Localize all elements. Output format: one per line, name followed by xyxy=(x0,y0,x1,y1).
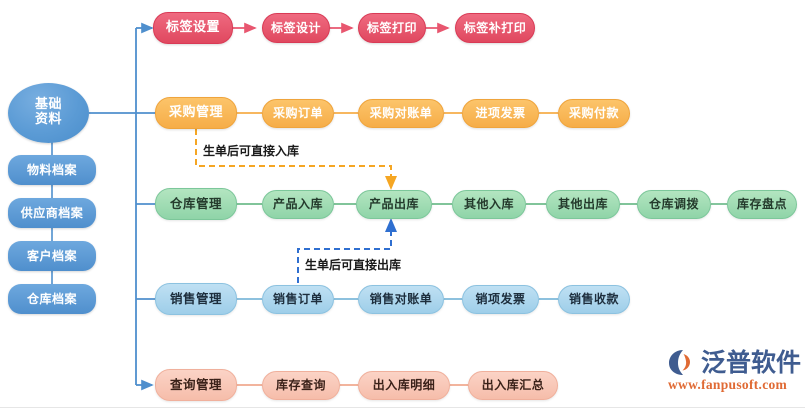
node-inventory-count[interactable]: 库存盘点 xyxy=(727,190,797,219)
node-label: 采购对账单 xyxy=(370,107,433,120)
root-label-line2: 资料 xyxy=(35,113,62,128)
node-warehouse-transfer[interactable]: 仓库调拨 xyxy=(637,190,711,219)
node-label: 查询管理 xyxy=(170,378,222,391)
node-purchase-payment[interactable]: 采购付款 xyxy=(558,99,630,128)
sidebar-item-label: 仓库档案 xyxy=(27,293,77,306)
sidebar-item-warehouse-archive[interactable]: 仓库档案 xyxy=(8,284,96,314)
node-output-invoice[interactable]: 销项发票 xyxy=(462,285,539,314)
node-label: 产品入库 xyxy=(273,198,323,211)
node-label: 标签设置 xyxy=(166,21,220,35)
annotation-salesorder-to-stockout: 生单后可直接出库 xyxy=(305,256,401,273)
node-label: 销项发票 xyxy=(475,293,525,306)
node-label-design[interactable]: 标签设计 xyxy=(262,13,330,43)
node-label: 标签补打印 xyxy=(464,22,527,35)
node-label: 采购订单 xyxy=(273,107,323,120)
node-label: 其他入库 xyxy=(464,198,514,211)
node-label: 仓库管理 xyxy=(170,197,222,210)
node-label-reprint[interactable]: 标签补打印 xyxy=(455,13,535,43)
node-query-management[interactable]: 查询管理 xyxy=(155,369,237,401)
node-product-stock-in[interactable]: 产品入库 xyxy=(262,190,334,219)
node-label: 其他出库 xyxy=(558,198,608,211)
node-label: 进项发票 xyxy=(475,107,525,120)
node-purchase-statement[interactable]: 采购对账单 xyxy=(358,99,444,128)
sidebar-item-label: 物料档案 xyxy=(27,164,77,177)
node-label: 销售收款 xyxy=(569,293,619,306)
node-label: 出入库明细 xyxy=(373,379,436,392)
logo-name: 泛普软件 xyxy=(701,350,801,375)
node-label: 库存盘点 xyxy=(737,198,787,211)
node-label-print[interactable]: 标签打印 xyxy=(358,13,426,43)
node-label: 库存查询 xyxy=(276,379,326,392)
node-label: 产品出库 xyxy=(369,198,419,211)
sidebar-item-customer-archive[interactable]: 客户档案 xyxy=(8,241,96,271)
node-label: 销售管理 xyxy=(170,292,222,305)
node-other-stock-in[interactable]: 其他入库 xyxy=(452,190,526,219)
node-sales-management[interactable]: 销售管理 xyxy=(155,283,237,315)
brand-logo: 泛普软件 www.fanpusoft.com xyxy=(668,349,801,393)
logo-url: www.fanpusoft.com xyxy=(668,377,801,393)
node-label: 采购管理 xyxy=(169,106,223,120)
sidebar-item-label: 客户档案 xyxy=(27,250,77,263)
annotation-purchase-to-stockin: 生单后可直接入库 xyxy=(203,142,299,159)
node-warehouse-management[interactable]: 仓库管理 xyxy=(155,188,237,220)
node-inventory-query[interactable]: 库存查询 xyxy=(262,371,340,400)
node-product-stock-out[interactable]: 产品出库 xyxy=(356,190,432,219)
node-label: 标签设计 xyxy=(271,22,321,35)
node-sales-receipt[interactable]: 销售收款 xyxy=(558,285,630,314)
node-label: 出入库汇总 xyxy=(482,379,545,392)
node-other-stock-out[interactable]: 其他出库 xyxy=(546,190,620,219)
node-purchase-management[interactable]: 采购管理 xyxy=(155,97,237,129)
sidebar-item-material-archive[interactable]: 物料档案 xyxy=(8,155,96,185)
node-label: 采购付款 xyxy=(569,107,619,120)
flowchart-canvas: 基础 资料 物料档案 供应商档案 客户档案 仓库档案 标签设置 标签设计 标签打… xyxy=(0,0,805,408)
sidebar-item-label: 供应商档案 xyxy=(21,207,84,220)
root-node-basic-data[interactable]: 基础 资料 xyxy=(8,83,89,143)
root-label-line1: 基础 xyxy=(35,98,62,113)
node-label: 标签打印 xyxy=(367,22,417,35)
node-label-settings[interactable]: 标签设置 xyxy=(153,12,233,44)
node-label: 销售订单 xyxy=(273,293,323,306)
node-label: 销售对账单 xyxy=(370,293,433,306)
node-sales-order[interactable]: 销售订单 xyxy=(262,285,334,314)
fanpu-logo-icon xyxy=(668,349,698,376)
node-stock-movement-summary[interactable]: 出入库汇总 xyxy=(468,371,558,400)
node-purchase-order[interactable]: 采购订单 xyxy=(262,99,334,128)
node-sales-statement[interactable]: 销售对账单 xyxy=(358,285,444,314)
node-input-invoice[interactable]: 进项发票 xyxy=(462,99,539,128)
annotation-text: 生单后可直接入库 xyxy=(203,144,299,158)
node-label: 仓库调拨 xyxy=(649,198,699,211)
sidebar-item-supplier-archive[interactable]: 供应商档案 xyxy=(8,198,96,228)
annotation-text: 生单后可直接出库 xyxy=(305,258,401,272)
node-stock-movement-detail[interactable]: 出入库明细 xyxy=(358,371,450,400)
